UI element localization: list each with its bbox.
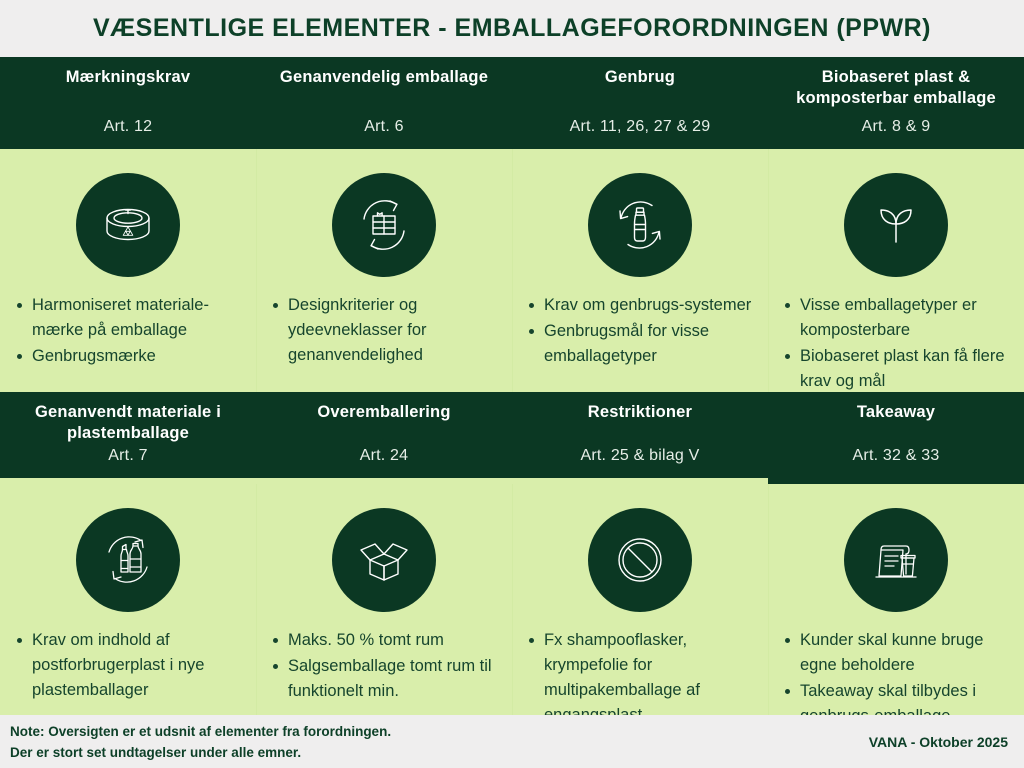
bullet-list: Harmoniseret materiale-mærke på emballag… xyxy=(0,293,256,392)
header-title: Takeaway xyxy=(857,402,935,423)
title-bar: VÆSENTLIGE ELEMENTER - EMBALLAGEFORORDNI… xyxy=(0,0,1024,57)
footer-note-line-1: Note: Oversigten er et udsnit af element… xyxy=(10,721,391,742)
icon-wrap xyxy=(512,484,768,628)
header-article: Art. 6 xyxy=(364,117,403,137)
header-cell-restriktioner[interactable]: Restriktioner Art. 25 & bilag V xyxy=(512,392,768,478)
icon-wrap xyxy=(0,484,256,628)
header-row-1: Mærkningskrav Art. 12 Genanvendelig emba… xyxy=(0,57,1024,149)
list-item: Genbrugsmål for visse emballagetyper xyxy=(526,319,756,369)
icon-wrap xyxy=(256,484,512,628)
header-cell-genanvendt-materiale[interactable]: Genanvendt materiale i plastemballage Ar… xyxy=(0,392,256,478)
list-item: Fx shampooflasker, krympefolie for multi… xyxy=(526,628,756,728)
infographic-page: VÆSENTLIGE ELEMENTER - EMBALLAGEFORORDNI… xyxy=(0,0,1024,768)
bullet-list: Maks. 50 % tomt rum Salgsemballage tomt … xyxy=(256,628,512,726)
section-row-1: Mærkningskrav Art. 12 Genanvendelig emba… xyxy=(0,57,1024,392)
footer-note-line-2: Der er stort set undtagelser under alle … xyxy=(10,742,391,763)
header-cell-genanvendelig-emballage[interactable]: Genanvendelig emballage Art. 6 xyxy=(256,57,512,149)
header-cell-overemballering[interactable]: Overemballering Art. 24 xyxy=(256,392,512,478)
section-row-2: Genanvendt materiale i plastemballage Ar… xyxy=(0,392,1024,726)
header-article: Art. 25 & bilag V xyxy=(580,446,699,466)
bullet-list: Krav om genbrugs-systemer Genbrugsmål fo… xyxy=(512,293,768,392)
header-cell-genbrug[interactable]: Genbrug Art. 11, 26, 27 & 29 xyxy=(512,57,768,149)
plastic-bottles-recycle-icon xyxy=(76,508,180,612)
header-cell-maerkningskrav[interactable]: Mærkningskrav Art. 12 xyxy=(0,57,256,149)
header-article: Art. 32 & 33 xyxy=(853,446,940,466)
list-item: Krav om genbrugs-systemer xyxy=(526,293,756,318)
header-title: Overemballering xyxy=(317,402,450,423)
list-item: Kunder skal kunne bruge egne beholdere xyxy=(782,628,1012,678)
content-cell-genbrug: Krav om genbrugs-systemer Genbrugsmål fo… xyxy=(512,149,768,392)
footer-bar: Note: Oversigten er et udsnit af element… xyxy=(0,715,1024,768)
icon-wrap xyxy=(512,149,768,293)
content-cell-genanvendelig-emballage: Designkriterier og ydeevneklasser for ge… xyxy=(256,149,512,392)
icon-wrap xyxy=(0,149,256,293)
list-item: Maks. 50 % tomt rum xyxy=(270,628,500,653)
header-article: Art. 7 xyxy=(108,446,147,466)
list-item: Harmoniseret materiale-mærke på emballag… xyxy=(14,293,244,343)
content-cell-takeaway: Kunder skal kunne bruge egne beholdere T… xyxy=(768,484,1024,726)
icon-wrap xyxy=(768,149,1024,293)
header-title: Genbrug xyxy=(605,67,675,88)
page-title: VÆSENTLIGE ELEMENTER - EMBALLAGEFORORDNI… xyxy=(93,14,931,43)
list-item: Genbrugsmærke xyxy=(14,344,244,369)
takeaway-bag-cup-icon xyxy=(844,508,948,612)
reusable-bottle-icon xyxy=(588,173,692,277)
header-article: Art. 11, 26, 27 & 29 xyxy=(570,117,711,137)
footer-note: Note: Oversigten er et udsnit af element… xyxy=(10,721,391,763)
header-article: Art. 12 xyxy=(104,117,153,137)
header-cell-takeaway[interactable]: Takeaway Art. 32 & 33 xyxy=(768,392,1024,484)
header-row-2: Genanvendt materiale i plastemballage Ar… xyxy=(0,392,1024,484)
content-cell-restriktioner: Fx shampooflasker, krympefolie for multi… xyxy=(512,484,768,726)
header-article: Art. 8 & 9 xyxy=(862,117,931,137)
footer-credit: VANA - Oktober 2025 xyxy=(869,734,1008,750)
header-title: Genanvendt materiale i plastemballage xyxy=(8,402,248,444)
content-row-2: Krav om indhold af postforbrugerplast i … xyxy=(0,484,1024,726)
content-cell-overemballering: Maks. 50 % tomt rum Salgsemballage tomt … xyxy=(256,484,512,726)
prohibition-icon xyxy=(588,508,692,612)
header-title: Genanvendelig emballage xyxy=(280,67,488,88)
header-title: Biobaseret plast & komposterbar emballag… xyxy=(776,67,1016,109)
header-title: Restriktioner xyxy=(588,402,692,423)
list-item: Designkriterier og ydeevneklasser for ge… xyxy=(270,293,500,368)
header-title: Mærkningskrav xyxy=(66,67,191,88)
list-item: Salgsemballage tomt rum til funktionelt … xyxy=(270,654,500,704)
content-cell-genanvendt-materiale: Krav om indhold af postforbrugerplast i … xyxy=(0,484,256,726)
list-item: Krav om indhold af postforbrugerplast i … xyxy=(14,628,244,703)
header-cell-biobaseret-plast[interactable]: Biobaseret plast & komposterbar emballag… xyxy=(768,57,1024,149)
bullet-list: Visse emballagetyper er komposterbare Bi… xyxy=(768,293,1024,405)
content-cell-maerkningskrav: Harmoniseret materiale-mærke på emballag… xyxy=(0,149,256,392)
list-item: Visse emballagetyper er komposterbare xyxy=(782,293,1012,343)
recycling-tub-icon xyxy=(76,173,180,277)
icon-wrap xyxy=(256,149,512,293)
open-box-icon xyxy=(332,508,436,612)
content-cell-biobaseret-plast: Visse emballagetyper er komposterbare Bi… xyxy=(768,149,1024,392)
header-article: Art. 24 xyxy=(360,446,409,466)
bullet-list: Krav om indhold af postforbrugerplast i … xyxy=(0,628,256,726)
list-item: Biobaseret plast kan få flere krav og må… xyxy=(782,344,1012,394)
sprout-icon xyxy=(844,173,948,277)
icon-wrap xyxy=(768,484,1024,628)
crate-recycle-icon xyxy=(332,173,436,277)
bullet-list: Designkriterier og ydeevneklasser for ge… xyxy=(256,293,512,392)
content-row-1: Harmoniseret materiale-mærke på emballag… xyxy=(0,149,1024,392)
